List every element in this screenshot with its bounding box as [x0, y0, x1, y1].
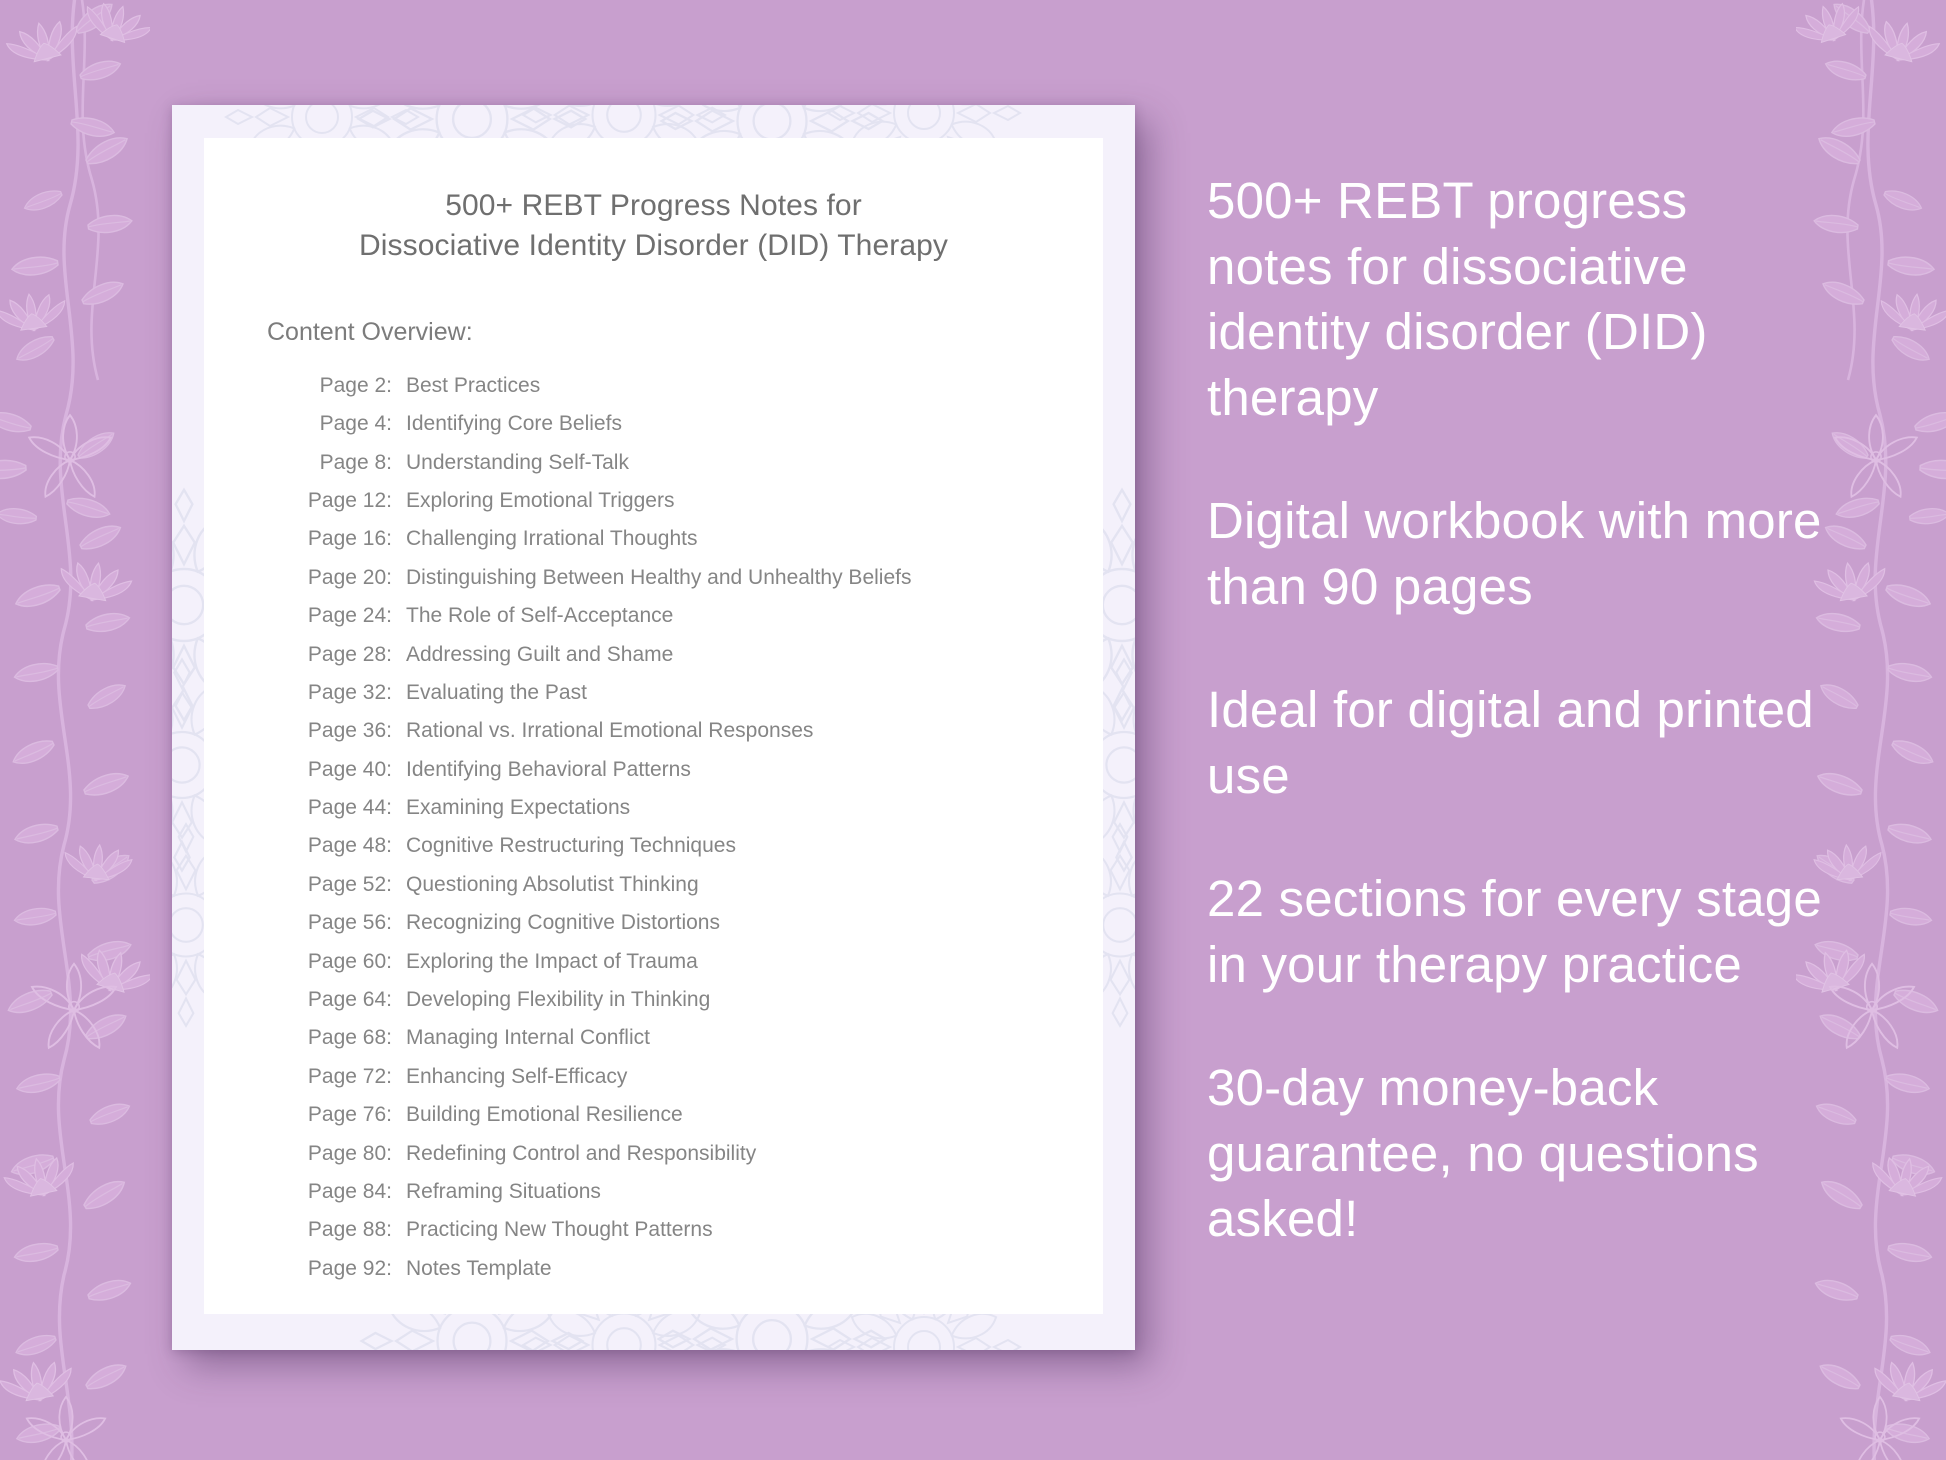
toc-page-number: Page 80: [299, 1143, 392, 1164]
toc-page-number: Page 20: [299, 567, 392, 588]
marketing-copy: 500+ REBT progress notes for dissociativ… [1207, 168, 1827, 1252]
toc-section-title: Identifying Core Beliefs [406, 413, 622, 434]
toc-page-number: Page 2: [299, 375, 392, 396]
toc-row: Page 84:Reframing Situations [299, 1181, 1103, 1202]
toc-section-title: Best Practices [406, 375, 540, 396]
toc-row: Page 56:Recognizing Cognitive Distortion… [299, 912, 1103, 933]
page-title: 500+ REBT Progress Notes for Dissociativ… [204, 186, 1103, 266]
toc-section-title: Evaluating the Past [406, 682, 587, 703]
toc-row: Page 80:Redefining Control and Responsib… [299, 1143, 1103, 1164]
floral-vine-border-left [0, 0, 150, 1460]
toc-page-number: Page 60: [299, 951, 392, 972]
toc-section-title: Exploring Emotional Triggers [406, 490, 674, 511]
toc-row: Page 40:Identifying Behavioral Patterns [299, 759, 1103, 780]
toc-section-title: Exploring the Impact of Trauma [406, 951, 698, 972]
toc-row: Page 8:Understanding Self-Talk [299, 452, 1103, 473]
toc-page-number: Page 72: [299, 1066, 392, 1087]
toc-section-title: Rational vs. Irrational Emotional Respon… [406, 720, 813, 741]
marketing-block: Digital workbook with more than 90 pages [1207, 488, 1827, 619]
toc-row: Page 4:Identifying Core Beliefs [299, 413, 1103, 434]
toc-section-title: Developing Flexibility in Thinking [406, 989, 710, 1010]
toc-row: Page 52:Questioning Absolutist Thinking [299, 874, 1103, 895]
toc-section-title: Practicing New Thought Patterns [406, 1219, 713, 1240]
toc-page-number: Page 36: [299, 720, 392, 741]
toc-section-title: Reframing Situations [406, 1181, 601, 1202]
toc-section-title: Identifying Behavioral Patterns [406, 759, 691, 780]
toc-row: Page 92:Notes Template [299, 1258, 1103, 1279]
toc-page-number: Page 8: [299, 452, 392, 473]
toc-page-number: Page 56: [299, 912, 392, 933]
toc-page-number: Page 52: [299, 874, 392, 895]
toc-row: Page 44:Examining Expectations [299, 797, 1103, 818]
toc-row: Page 36:Rational vs. Irrational Emotiona… [299, 720, 1103, 741]
toc-page-number: Page 12: [299, 490, 392, 511]
marketing-block: 500+ REBT progress notes for dissociativ… [1207, 168, 1827, 430]
toc-page-number: Page 16: [299, 528, 392, 549]
toc-section-title: Managing Internal Conflict [406, 1027, 650, 1048]
content-overview-label: Content Overview: [267, 318, 1103, 347]
toc-section-title: Enhancing Self-Efficacy [406, 1066, 627, 1087]
toc-section-title: Addressing Guilt and Shame [406, 644, 673, 665]
toc-row: Page 24:The Role of Self-Acceptance [299, 605, 1103, 626]
toc-page-number: Page 4: [299, 413, 392, 434]
document-page: 500+ REBT Progress Notes for Dissociativ… [204, 138, 1103, 1314]
toc-row: Page 48:Cognitive Restructuring Techniqu… [299, 835, 1103, 856]
page-title-line-2: Dissociative Identity Disorder (DID) The… [244, 226, 1063, 266]
toc-page-number: Page 92: [299, 1258, 392, 1279]
toc-row: Page 12:Exploring Emotional Triggers [299, 490, 1103, 511]
toc-page-number: Page 40: [299, 759, 392, 780]
toc-row: Page 2:Best Practices [299, 375, 1103, 396]
toc-row: Page 60:Exploring the Impact of Trauma [299, 951, 1103, 972]
marketing-block: 22 sections for every stage in your ther… [1207, 866, 1827, 997]
toc-page-number: Page 88: [299, 1219, 392, 1240]
toc-page-number: Page 48: [299, 835, 392, 856]
toc-page-number: Page 76: [299, 1104, 392, 1125]
document-mockup: 500+ REBT Progress Notes for Dissociativ… [172, 105, 1135, 1350]
toc-section-title: Distinguishing Between Healthy and Unhea… [406, 567, 911, 588]
toc-section-title: Redefining Control and Responsibility [406, 1143, 756, 1164]
table-of-contents: Page 2:Best PracticesPage 4:Identifying … [299, 375, 1103, 1279]
toc-row: Page 68:Managing Internal Conflict [299, 1027, 1103, 1048]
toc-row: Page 64:Developing Flexibility in Thinki… [299, 989, 1103, 1010]
toc-section-title: Questioning Absolutist Thinking [406, 874, 699, 895]
marketing-block: 30-day money-back guarantee, no question… [1207, 1055, 1827, 1252]
marketing-block: Ideal for digital and printed use [1207, 677, 1827, 808]
page-title-line-1: 500+ REBT Progress Notes for [244, 186, 1063, 226]
toc-section-title: Challenging Irrational Thoughts [406, 528, 697, 549]
toc-section-title: Understanding Self-Talk [406, 452, 629, 473]
toc-row: Page 28:Addressing Guilt and Shame [299, 644, 1103, 665]
toc-section-title: Examining Expectations [406, 797, 630, 818]
toc-row: Page 16:Challenging Irrational Thoughts [299, 528, 1103, 549]
toc-section-title: Recognizing Cognitive Distortions [406, 912, 720, 933]
toc-page-number: Page 68: [299, 1027, 392, 1048]
toc-section-title: Notes Template [406, 1258, 552, 1279]
toc-page-number: Page 28: [299, 644, 392, 665]
toc-section-title: The Role of Self-Acceptance [406, 605, 673, 626]
toc-row: Page 88:Practicing New Thought Patterns [299, 1219, 1103, 1240]
toc-row: Page 76:Building Emotional Resilience [299, 1104, 1103, 1125]
toc-section-title: Cognitive Restructuring Techniques [406, 835, 736, 856]
toc-row: Page 32:Evaluating the Past [299, 682, 1103, 703]
toc-section-title: Building Emotional Resilience [406, 1104, 683, 1125]
toc-page-number: Page 64: [299, 989, 392, 1010]
toc-page-number: Page 84: [299, 1181, 392, 1202]
toc-page-number: Page 32: [299, 682, 392, 703]
toc-row: Page 72:Enhancing Self-Efficacy [299, 1066, 1103, 1087]
toc-row: Page 20:Distinguishing Between Healthy a… [299, 567, 1103, 588]
toc-page-number: Page 24: [299, 605, 392, 626]
toc-page-number: Page 44: [299, 797, 392, 818]
